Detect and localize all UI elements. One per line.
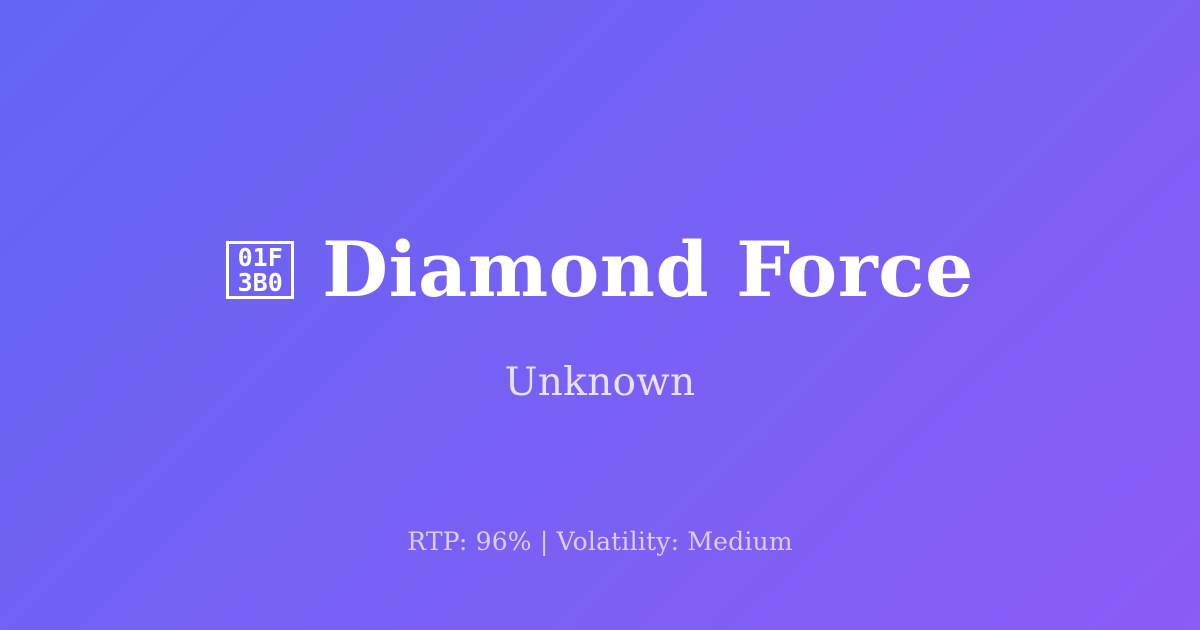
tofu-codepoint-bottom: 3B0 xyxy=(238,270,283,295)
game-title: Diamond Force xyxy=(322,232,974,308)
game-meta-footer: RTP: 96% | Volatility: Medium xyxy=(0,527,1200,557)
tofu-codepoint-top: 01F xyxy=(238,245,283,270)
title-row: 01F 3B0 Diamond Force xyxy=(0,232,1200,308)
game-preview-card: 01F 3B0 Diamond Force Unknown RTP: 96% |… xyxy=(0,0,1200,630)
slot-machine-emoji-tofu-icon: 01F 3B0 xyxy=(226,241,294,299)
game-provider-subtitle: Unknown xyxy=(0,362,1200,405)
